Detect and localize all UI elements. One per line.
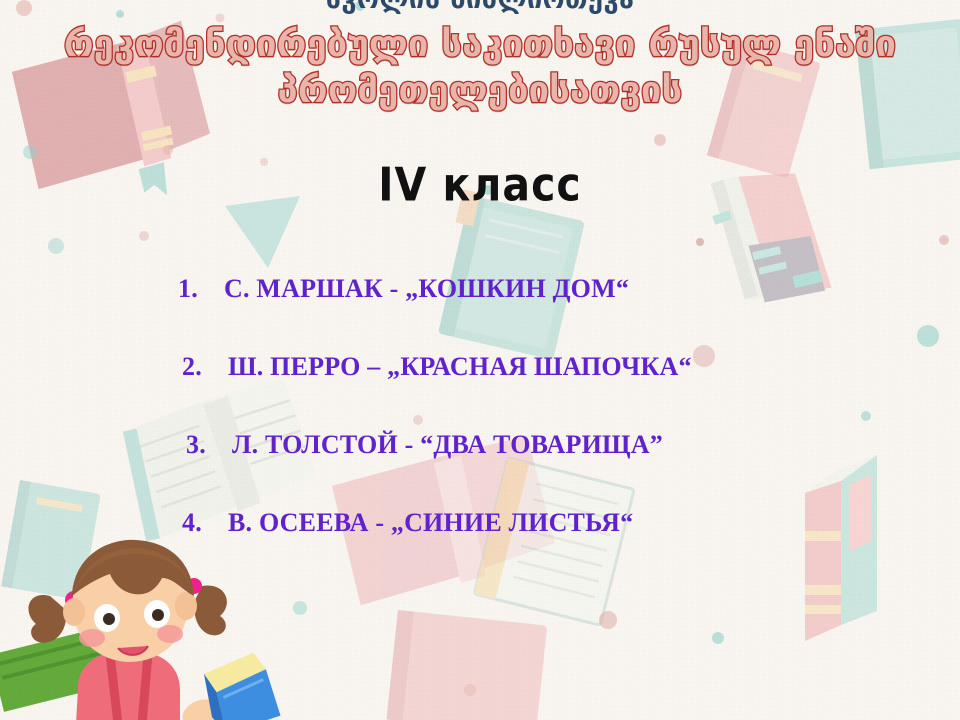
- page-title-line2: პრომეთელებისათვის: [0, 68, 960, 114]
- list-item: 1. С. МАРШАК - „КОШКИН ДОМ“: [178, 274, 878, 304]
- page-title-line1: რეკომენდირებული საკითხავი რუსულ ენაში: [0, 22, 960, 68]
- cut-off-header-text: სკოლის ბიბლიოთეკა: [0, 0, 960, 15]
- girl-reading-illustration: [6, 534, 306, 720]
- page-title: რეკომენდირებული საკითხავი რუსულ ენაში პრ…: [0, 22, 960, 114]
- list-item-number: 1.: [178, 274, 224, 304]
- list-item-label: Ш. ПЕРРО – „КРАСНАЯ ШАПОЧКА“: [228, 352, 692, 382]
- list-item-label: С. МАРШАК - „КОШКИН ДОМ“: [224, 274, 629, 304]
- list-item: 2. Ш. ПЕРРО – „КРАСНАЯ ШАПОЧКА“: [178, 352, 878, 382]
- list-item-number: 2.: [182, 352, 228, 382]
- list-item: 3. Л. ТОЛСТОЙ - “ДВА ТОВАРИЩА”: [178, 430, 878, 460]
- slide-canvas: სკოლის ბიბლიოთეკა რეკომენდირებული საკითხ…: [0, 0, 960, 720]
- list-item-label: Л. ТОЛСТОЙ - “ДВА ТОВАРИЩА”: [232, 430, 663, 460]
- grade-heading: IV класс: [0, 158, 960, 212]
- list-item-number: 3.: [186, 430, 232, 460]
